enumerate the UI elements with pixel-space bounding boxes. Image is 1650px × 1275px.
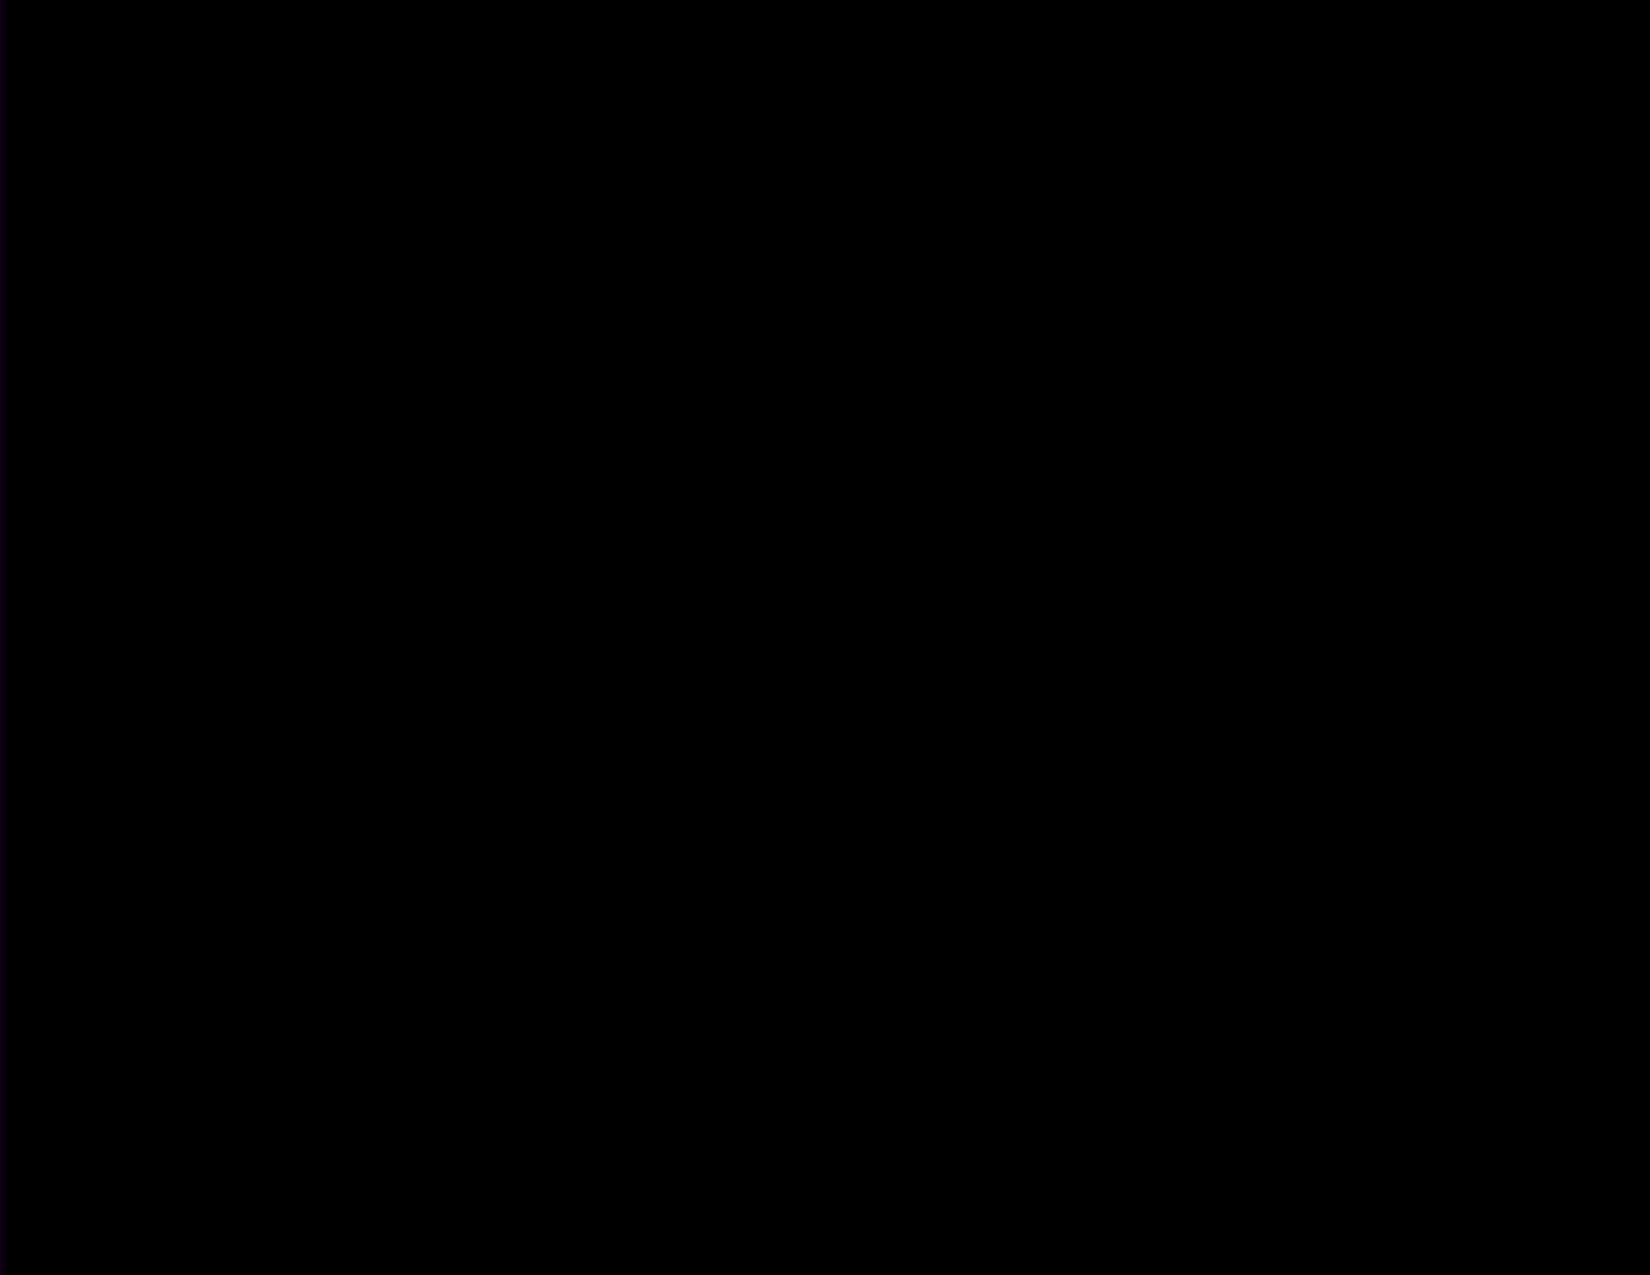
verse-line-1: Then God said to him in the dream, “Yes,… [90, 108, 1476, 196]
top-band-streak-4 [560, 40, 596, 88]
verse-line-5: not let you touch her. [90, 460, 1476, 548]
slide-canvas: Then God said to him in the dream, “Yes,… [22, 10, 1630, 1247]
verse-line-3: you have done this, and I also kept you [90, 284, 1476, 372]
attribution-prefix: — Genesis 20:6 (NASB [857, 560, 1540, 636]
verse-text-block: Then God said to him in the dream, “Yes,… [90, 108, 1580, 548]
top-band-streak-2 [682, 54, 1072, 71]
verse-attribution: — Genesis 20:6 (NASB®) [90, 548, 1585, 642]
top-band-streak-3 [1237, 56, 1412, 73]
top-highlight-band [22, 10, 1630, 94]
verse-line-2: know that in the integrity of your heart [90, 196, 1476, 284]
verse-slide: Then God said to him in the dream, “Yes,… [0, 0, 1650, 1275]
top-band-fade [44, 70, 1620, 104]
registered-trademark-icon: ® [1540, 572, 1564, 611]
verse-line-4: from sinning against Me; therefore I did [90, 372, 1476, 460]
attribution-suffix: ) [1564, 560, 1585, 636]
attribution-text: — Genesis 20:6 (NASB®) [857, 548, 1585, 642]
top-band-streak-1 [97, 54, 467, 71]
